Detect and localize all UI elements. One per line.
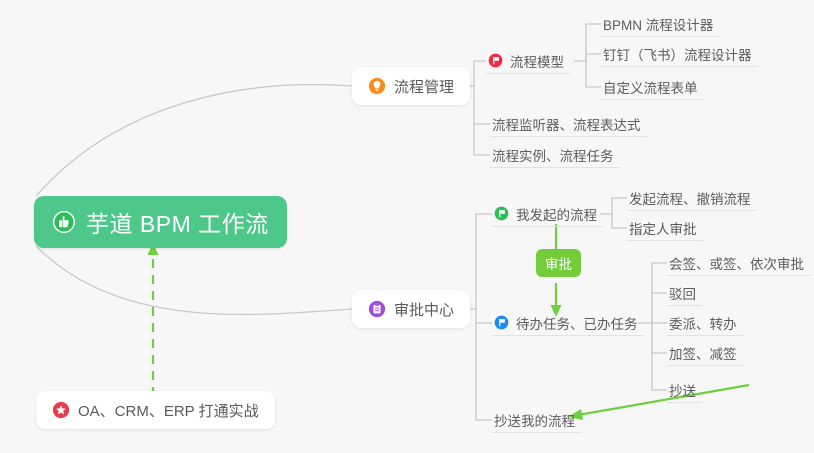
flag-green-icon — [494, 206, 509, 221]
node-process-listener-label: 流程监听器、流程表达式 — [492, 114, 641, 134]
wire-root-to-process-management — [36, 84, 352, 196]
node-delegate-transfer[interactable]: 委派、转办 — [667, 310, 743, 336]
mindmap-canvas: 芋道 BPM 工作流 流程管理 流程模型 BPMN 流程设计器 钉钉（飞书）流 — [0, 0, 814, 453]
flag-red-icon — [488, 53, 503, 68]
lightbulb-icon — [368, 77, 386, 95]
node-bpmn-designer[interactable]: BPMN 流程设计器 — [601, 11, 719, 37]
wire-root-to-approval-center — [36, 246, 352, 314]
branch-process-management-label: 流程管理 — [394, 76, 454, 97]
node-cc-to-me-process-label: 抄送我的流程 — [494, 410, 575, 430]
star-icon — [52, 401, 70, 419]
node-start-cancel-process[interactable]: 发起流程、撤销流程 — [627, 185, 757, 211]
thumbs-up-icon — [52, 210, 76, 234]
wire-mine-to-start — [600, 198, 627, 214]
branch-process-management[interactable]: 流程管理 — [352, 67, 470, 105]
root-node[interactable]: 芋道 BPM 工作流 — [34, 196, 287, 248]
wire-model-to-bpmn — [574, 24, 601, 61]
wire-ac-to-cc-to-me — [476, 323, 492, 420]
node-cc-to-me-process[interactable]: 抄送我的流程 — [492, 407, 581, 433]
approval-tag[interactable]: 审批 — [536, 249, 581, 277]
annotation-arrow-note-to-root — [148, 243, 159, 396]
annotation-arrow-cc-to-ccmine — [568, 385, 749, 420]
node-add-remove-sign-label: 加签、减签 — [669, 343, 737, 363]
node-cc-label: 抄送 — [669, 380, 696, 400]
node-process-instance-task-label: 流程实例、流程任务 — [492, 145, 614, 165]
wire-todo-to-addsign — [652, 323, 667, 353]
node-countersign-orsign-sequential[interactable]: 会签、或签、依次审批 — [667, 250, 810, 276]
node-reject-label: 驳回 — [669, 283, 696, 303]
branch-approval-center-label: 审批中心 — [394, 299, 454, 320]
node-start-cancel-process-label: 发起流程、撤销流程 — [629, 188, 751, 208]
clipboard-icon — [368, 300, 386, 318]
node-reject[interactable]: 驳回 — [667, 280, 702, 306]
wire-pm-to-instance — [474, 124, 490, 155]
node-add-remove-sign[interactable]: 加签、减签 — [667, 340, 743, 366]
wire-model-to-dingtalk — [586, 54, 601, 61]
node-bpmn-designer-label: BPMN 流程设计器 — [603, 14, 713, 34]
node-cc[interactable]: 抄送 — [667, 377, 702, 403]
node-todo-done-tasks[interactable]: 待办任务、已办任务 — [492, 310, 644, 336]
node-countersign-orsign-sequential-label: 会签、或签、依次审批 — [669, 253, 804, 273]
node-assignee-approval[interactable]: 指定人审批 — [627, 215, 703, 241]
wire-todo-to-cc — [652, 323, 667, 390]
node-process-listener[interactable]: 流程监听器、流程表达式 — [490, 111, 647, 137]
wire-todo-to-reject — [652, 293, 667, 323]
node-custom-process-form[interactable]: 自定义流程表单 — [601, 74, 704, 100]
integration-note-label: OA、CRM、ERP 打通实战 — [78, 400, 259, 421]
node-my-initiated-process-label: 我发起的流程 — [516, 204, 597, 224]
node-custom-process-form-label: 自定义流程表单 — [603, 77, 698, 97]
wire-mine-to-assignee — [612, 214, 627, 228]
integration-note[interactable]: OA、CRM、ERP 打通实战 — [36, 391, 275, 429]
node-todo-done-tasks-label: 待办任务、已办任务 — [516, 313, 638, 333]
node-process-model-label: 流程模型 — [510, 51, 564, 71]
approval-tag-label: 审批 — [545, 253, 572, 273]
node-assignee-approval-label: 指定人审批 — [629, 218, 697, 238]
wire-model-to-customform — [586, 61, 601, 87]
node-delegate-transfer-label: 委派、转办 — [669, 313, 737, 333]
node-my-initiated-process[interactable]: 我发起的流程 — [492, 201, 603, 227]
node-dingtalk-feishu-designer[interactable]: 钉钉（飞书）流程设计器 — [601, 41, 758, 67]
node-dingtalk-feishu-designer-label: 钉钉（飞书）流程设计器 — [603, 44, 752, 64]
root-label: 芋道 BPM 工作流 — [86, 205, 269, 239]
flag-blue-icon — [494, 315, 509, 330]
wire-ac-to-todo-tasks — [476, 309, 492, 323]
node-process-instance-task[interactable]: 流程实例、流程任务 — [490, 142, 620, 168]
branch-approval-center[interactable]: 审批中心 — [352, 290, 470, 328]
node-process-model[interactable]: 流程模型 — [486, 48, 570, 74]
